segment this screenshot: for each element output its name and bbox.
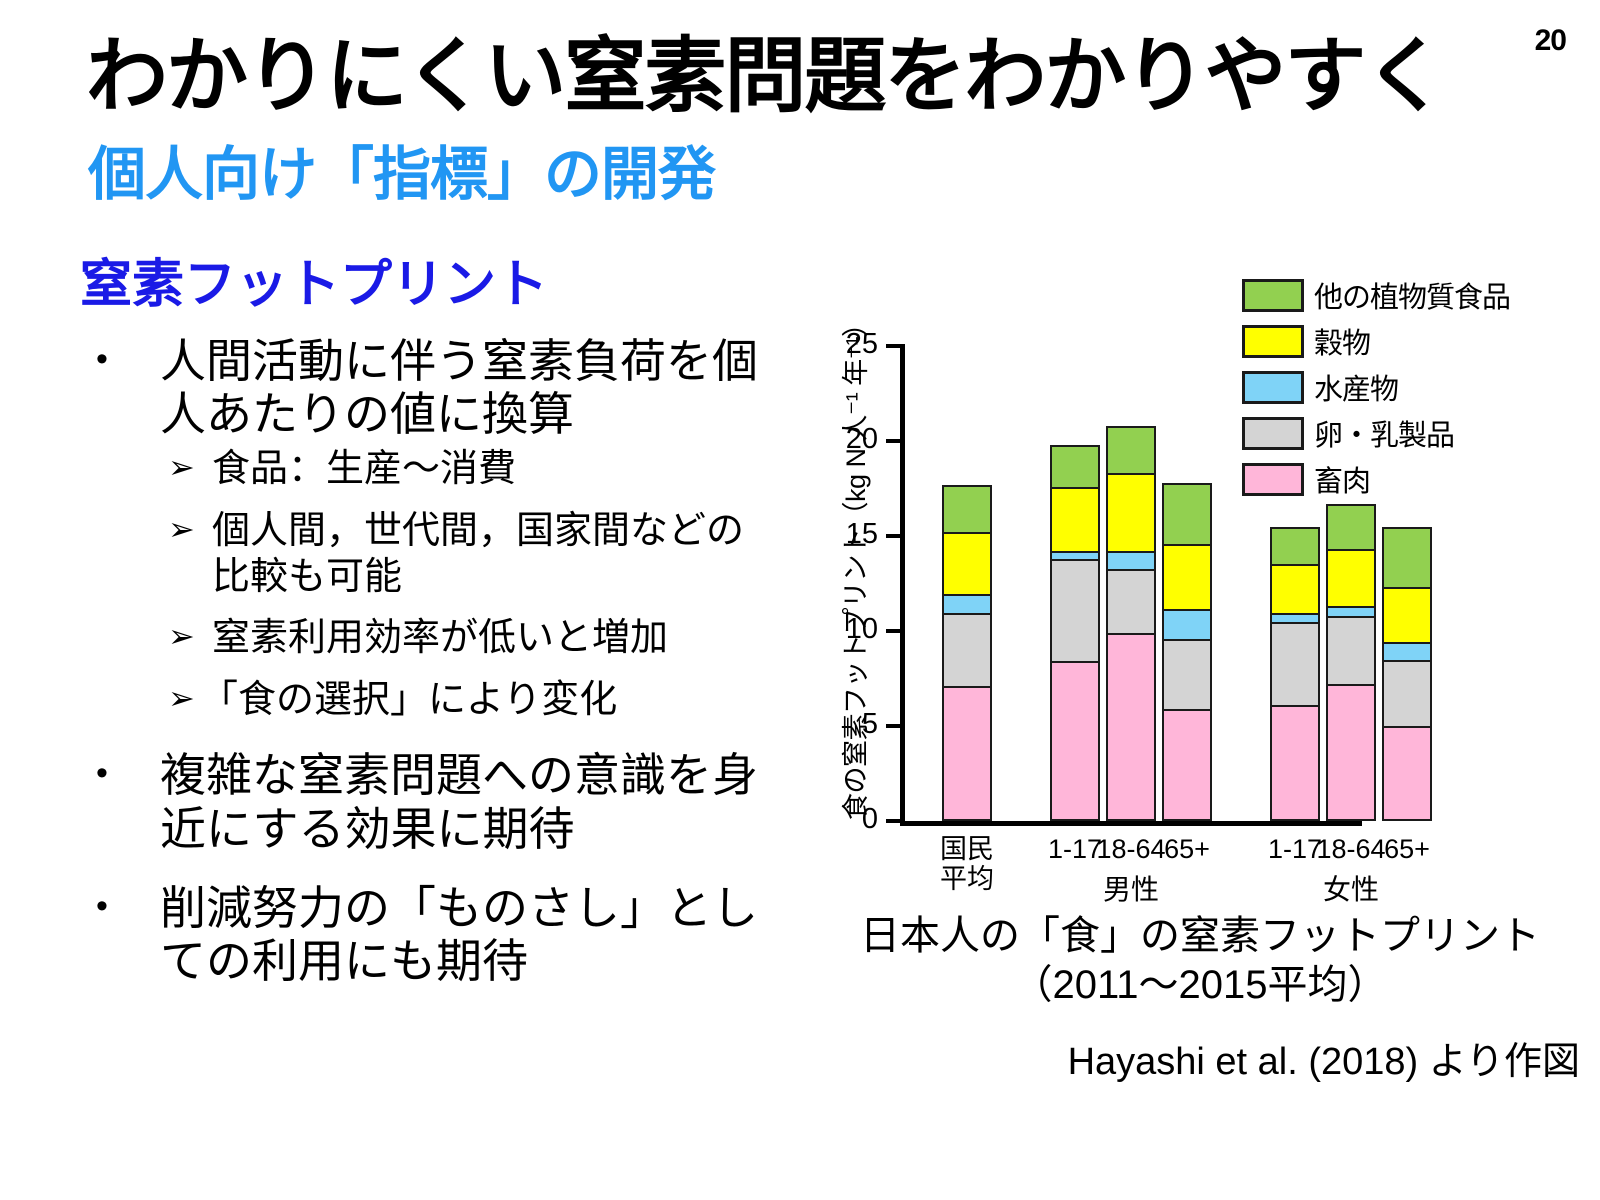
x-group-label: 男性 [1061, 868, 1201, 908]
bar-segment-1 [1050, 559, 1100, 664]
bar-segment-0 [1162, 709, 1212, 821]
bar-segment-1 [942, 613, 992, 689]
bar-segment-3 [1382, 587, 1432, 644]
chart-bar [942, 485, 992, 821]
bar-segment-4 [1326, 504, 1376, 552]
bar-segment-4 [1050, 445, 1100, 489]
bar-segment-4 [1270, 527, 1320, 567]
legend-item: 卵・乳製品 [1242, 412, 1510, 454]
y-tick-label: 5 [818, 710, 878, 739]
y-axis-label-text: 食の窒素フットプリント（kg N 人⁻¹ 年⁻¹） [841, 310, 871, 820]
bullet-item-2: • 複雑な窒素問題への意識を身近にする効果に期待 [80, 749, 780, 856]
y-tick-label: 0 [818, 805, 878, 834]
bar-segment-0 [942, 686, 992, 821]
bar-segment-4 [1106, 426, 1156, 475]
legend-item: 水産物 [1242, 366, 1510, 408]
bullet-item-1: • 人間活動に伴う窒素負荷を個人あたりの値に換算 [80, 335, 780, 442]
bar-segment-0 [1382, 726, 1432, 821]
arrow-bullet-icon: ➢ [168, 616, 212, 658]
bar-segment-3 [942, 532, 992, 597]
sub-bullet-text-4: 「食の選択」により変化 [200, 678, 780, 724]
arrow-bullet-icon: ➢ [168, 447, 212, 489]
sub-bullet-item-3: ➢ 窒素利用効率が低いと増加 [168, 616, 780, 662]
sub-bullet-list: ➢ 食品：生産～消費 ➢ 個人間，世代間，国家間などの比較も可能 ➢ 窒素利用効… [168, 447, 780, 723]
bar-segment-1 [1270, 622, 1320, 708]
chart-bar [1050, 445, 1100, 821]
bar-segment-3 [1050, 487, 1100, 554]
legend-label: 他の植物質食品 [1314, 274, 1510, 316]
x-tick-label: 65+ [1352, 834, 1462, 864]
bar-segment-0 [1106, 633, 1156, 821]
sub-bullet-text-1: 食品：生産～消費 [212, 447, 780, 493]
bar-segment-2 [1162, 609, 1212, 641]
y-tick-label: 25 [818, 330, 878, 359]
arrow-bullet-icon: ➢ [168, 678, 200, 720]
bar-segment-4 [942, 485, 992, 534]
y-tick-label: 15 [818, 520, 878, 549]
chart-bar [1162, 483, 1212, 821]
figure-caption-line-1: 日本人の「食」の窒素フットプリント [820, 912, 1580, 961]
legend-label: 卵・乳製品 [1314, 412, 1454, 454]
x-tick-label: 65+ [1132, 834, 1242, 864]
sub-bullet-item-2: ➢ 個人間，世代間，国家間などの比較も可能 [168, 509, 780, 600]
y-tick-label: 20 [818, 425, 878, 454]
bar-segment-1 [1162, 639, 1212, 711]
slide-title-main: わかりにくい窒素問題をわかりやすく [86, 36, 1444, 118]
legend-color-swatch [1242, 371, 1304, 404]
figure-credit: Hayashi et al. (2018) より作図 [820, 1030, 1598, 1085]
legend-item: 穀物 [1242, 320, 1510, 362]
bullet-text-1: 人間活動に伴う窒素負荷を個人あたりの値に換算 [160, 335, 780, 442]
figure-caption: 日本人の「食」の窒素フットプリント （2011～2015平均） [820, 912, 1580, 1010]
chart-bar [1326, 504, 1376, 821]
bar-segment-0 [1326, 684, 1376, 821]
bar-segment-3 [1106, 473, 1156, 553]
chart-bar [1106, 426, 1156, 821]
bar-segment-3 [1162, 544, 1212, 612]
body-content: 窒素フットプリント • 人間活動に伴う窒素負荷を個人あたりの値に換算 ➢ 食品：… [80, 258, 780, 995]
sub-bullet-item-1: ➢ 食品：生産～消費 [168, 447, 780, 493]
bullet-text-2: 複雑な窒素問題への意識を身近にする効果に期待 [160, 749, 780, 856]
bar-segment-3 [1326, 549, 1376, 608]
bar-segment-4 [1382, 527, 1432, 590]
legend-color-swatch [1242, 325, 1304, 358]
bar-segment-1 [1326, 616, 1376, 686]
bullet-marker-dot: • [80, 335, 160, 384]
section-heading: 窒素フットプリント [80, 258, 780, 313]
x-tick-label: 国民平均 [912, 834, 1022, 894]
x-group-label: 女性 [1281, 868, 1421, 908]
legend-color-swatch [1242, 463, 1304, 496]
bar-segment-4 [1162, 483, 1212, 546]
bar-segment-3 [1270, 564, 1320, 615]
arrow-bullet-icon: ➢ [168, 509, 212, 551]
legend-item: 畜肉 [1242, 458, 1510, 500]
nitrogen-footprint-chart: 食の窒素フットプリント（kg N 人⁻¹ 年⁻¹） 0510152025 国民平… [790, 268, 1590, 908]
y-tick-label: 10 [818, 615, 878, 644]
bar-segment-0 [1050, 661, 1100, 821]
legend-label: 水産物 [1314, 366, 1398, 408]
bar-segment-1 [1382, 660, 1432, 728]
sub-bullet-text-3: 窒素利用効率が低いと増加 [212, 616, 780, 662]
sub-bullet-item-4: ➢ 「食の選択」により変化 [168, 678, 780, 724]
bullet-marker-dot: • [80, 882, 160, 931]
chart-legend: 他の植物質食品穀物水産物卵・乳製品畜肉 [1242, 274, 1510, 500]
legend-label: 穀物 [1314, 320, 1370, 362]
figure-caption-line-2: （2011～2015平均） [820, 961, 1580, 1010]
bullet-marker-dot: • [80, 749, 160, 798]
bar-segment-1 [1106, 569, 1156, 636]
legend-item: 他の植物質食品 [1242, 274, 1510, 316]
legend-color-swatch [1242, 417, 1304, 450]
sub-bullet-text-2: 個人間，世代間，国家間などの比較も可能 [212, 509, 780, 600]
slide-title-sub: 個人向け「指標」の開発 [88, 146, 715, 204]
bar-segment-0 [1270, 705, 1320, 821]
chart-y-axis-label: 食の窒素フットプリント（kg N 人⁻¹ 年⁻¹） [834, 400, 878, 820]
bullet-item-3: • 削減努力の「ものさし」としての利用にも期待 [80, 882, 780, 989]
bullet-text-3: 削減努力の「ものさし」としての利用にも期待 [160, 882, 780, 989]
legend-label: 畜肉 [1314, 458, 1370, 500]
chart-bar [1382, 527, 1432, 821]
chart-x-axis [900, 821, 1362, 826]
legend-color-swatch [1242, 279, 1304, 312]
chart-bar [1270, 527, 1320, 821]
slide-number: 20 [1535, 24, 1566, 58]
